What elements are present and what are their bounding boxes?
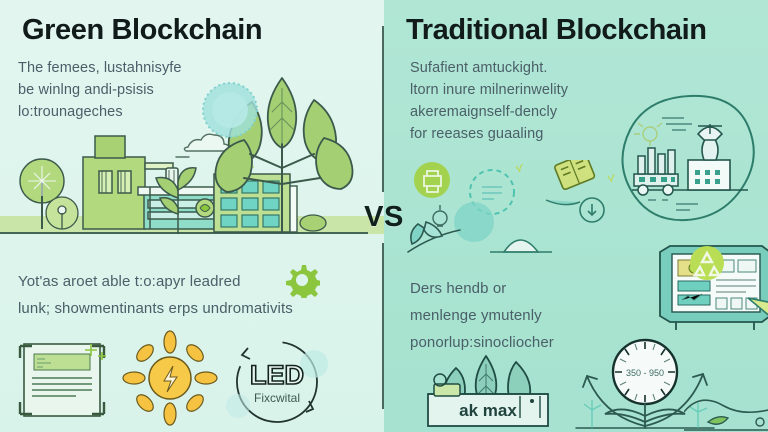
divider-line-top [382, 26, 384, 192]
caption-left: Yot'as aroet able t:o:apyr leadred lunk;… [18, 268, 348, 322]
ground-leaves [684, 392, 768, 432]
blurb-left-line-1: The femees, lustahnisyfe [18, 57, 318, 79]
divider-line-bottom [382, 243, 384, 409]
vs-label: VS [350, 192, 418, 242]
mining-rig-cart [634, 148, 678, 195]
page-title-right: Traditional Blockchain [406, 14, 707, 47]
infographic-canvas: LED Fixcwital Green Blockchain The femee… [0, 0, 768, 432]
caption-right-line-3: ponorlup:sinocliocher [410, 329, 710, 356]
blurb-right-line-4: for reeases guaaling [410, 123, 700, 145]
caption-left-line-1: Yot'as aroet able t:o:apyr leadred [18, 268, 348, 295]
seedling-sprout [148, 158, 208, 234]
panel-green-blockchain: LED Fixcwital Green Blockchain The femee… [0, 0, 384, 432]
misc-icon-cluster [404, 160, 634, 256]
caption-left-line-2: lunk; showmentinants erps undromativits [18, 295, 348, 322]
paper-plane-icon [744, 292, 768, 340]
sun-energy-icon [122, 330, 218, 426]
document-card [18, 340, 124, 424]
blurb-right-line-3: akeremaignself-dencly [410, 101, 700, 123]
page-title-left: Green Blockchain [22, 14, 262, 47]
gauge-reading: 350 - 950 [626, 368, 664, 378]
blurb-right: Sufafient amtuckight. ltorn inure milner… [410, 57, 700, 145]
blurb-left-line-2: be winlng andi-psisis [18, 79, 318, 101]
caption-right-line-2: menlenge ymutenly [410, 302, 710, 329]
blurb-right-line-1: Sufafient amtuckight. [410, 57, 700, 79]
leaf-crate: ak max [420, 346, 570, 432]
led-badge-title: LED [250, 360, 304, 390]
led-badge-subtitle: Fixcwital [254, 391, 300, 405]
panel-traditional-blockchain: 350 - 950 [384, 0, 768, 432]
blurb-left-line-3: lo:trounageches [18, 101, 318, 123]
section-divider-left [0, 232, 368, 234]
blurb-left: The femees, lustahnisyfe be winlng andi-… [18, 57, 318, 123]
crate-label: ak max [459, 401, 517, 420]
book-icon [554, 160, 595, 190]
caption-right-line-1: Ders hendb or [410, 275, 710, 302]
caption-right: Ders hendb or menlenge ymutenly ponorlup… [410, 275, 710, 356]
blurb-right-line-2: ltorn inure milnerinwelity [410, 79, 700, 101]
led-badge: LED Fixcwital [222, 334, 332, 430]
